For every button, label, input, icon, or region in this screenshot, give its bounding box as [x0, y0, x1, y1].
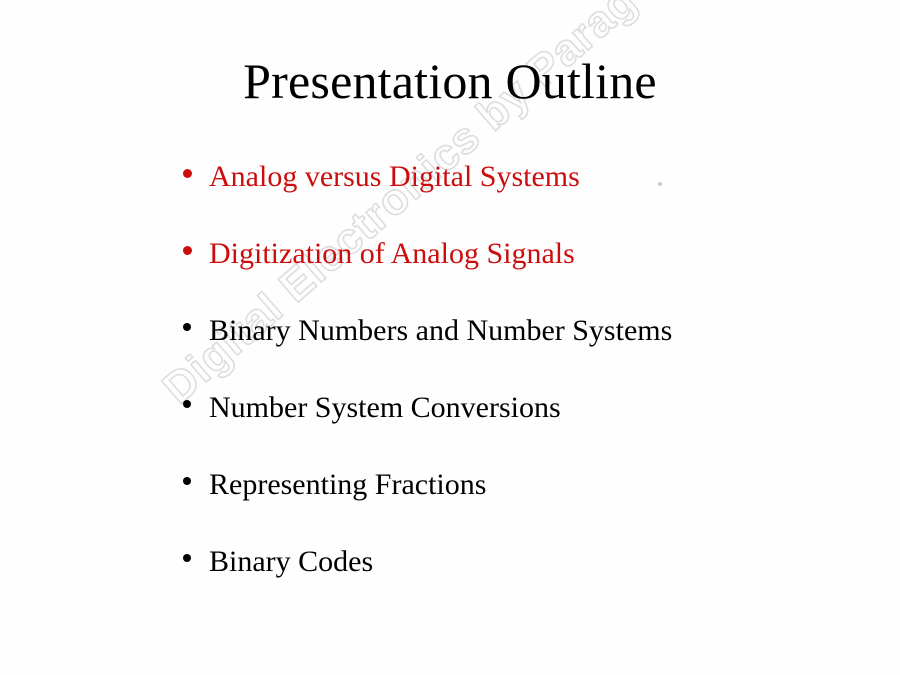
bullet-dot-icon [178, 391, 209, 408]
outline-item-binary-numbers-and-number-systems[interactable]: Binary Numbers and Number Systems [178, 314, 878, 391]
bullet-dot-icon [178, 314, 209, 331]
outline-item-label: Representing Fractions [209, 468, 878, 502]
outline-item-representing-fractions[interactable]: Representing Fractions [178, 468, 878, 545]
outline-item-analog-versus-digital-systems[interactable]: Analog versus Digital Systems [178, 160, 878, 237]
outline-item-label: Binary Numbers and Number Systems [209, 314, 878, 348]
bullet-dot-icon [178, 160, 209, 178]
bullet-dot-icon [178, 468, 209, 485]
bullet-dot-icon [178, 545, 209, 562]
outline-bullet-list: Analog versus Digital Systems Digitizati… [178, 160, 878, 622]
outline-item-label: Binary Codes [209, 545, 878, 579]
slide-title: Presentation Outline [0, 52, 900, 110]
outline-item-digitization-of-analog-signals[interactable]: Digitization of Analog Signals [178, 237, 878, 314]
outline-item-label: Analog versus Digital Systems [209, 160, 878, 194]
outline-item-label: Number System Conversions [209, 391, 878, 425]
bullet-dot-icon [178, 237, 209, 255]
presentation-slide: Digital Electronics by Parag P Presentat… [0, 0, 900, 675]
outline-item-label: Digitization of Analog Signals [209, 237, 878, 271]
outline-item-number-system-conversions[interactable]: Number System Conversions [178, 391, 878, 468]
outline-item-binary-codes[interactable]: Binary Codes [178, 545, 878, 622]
